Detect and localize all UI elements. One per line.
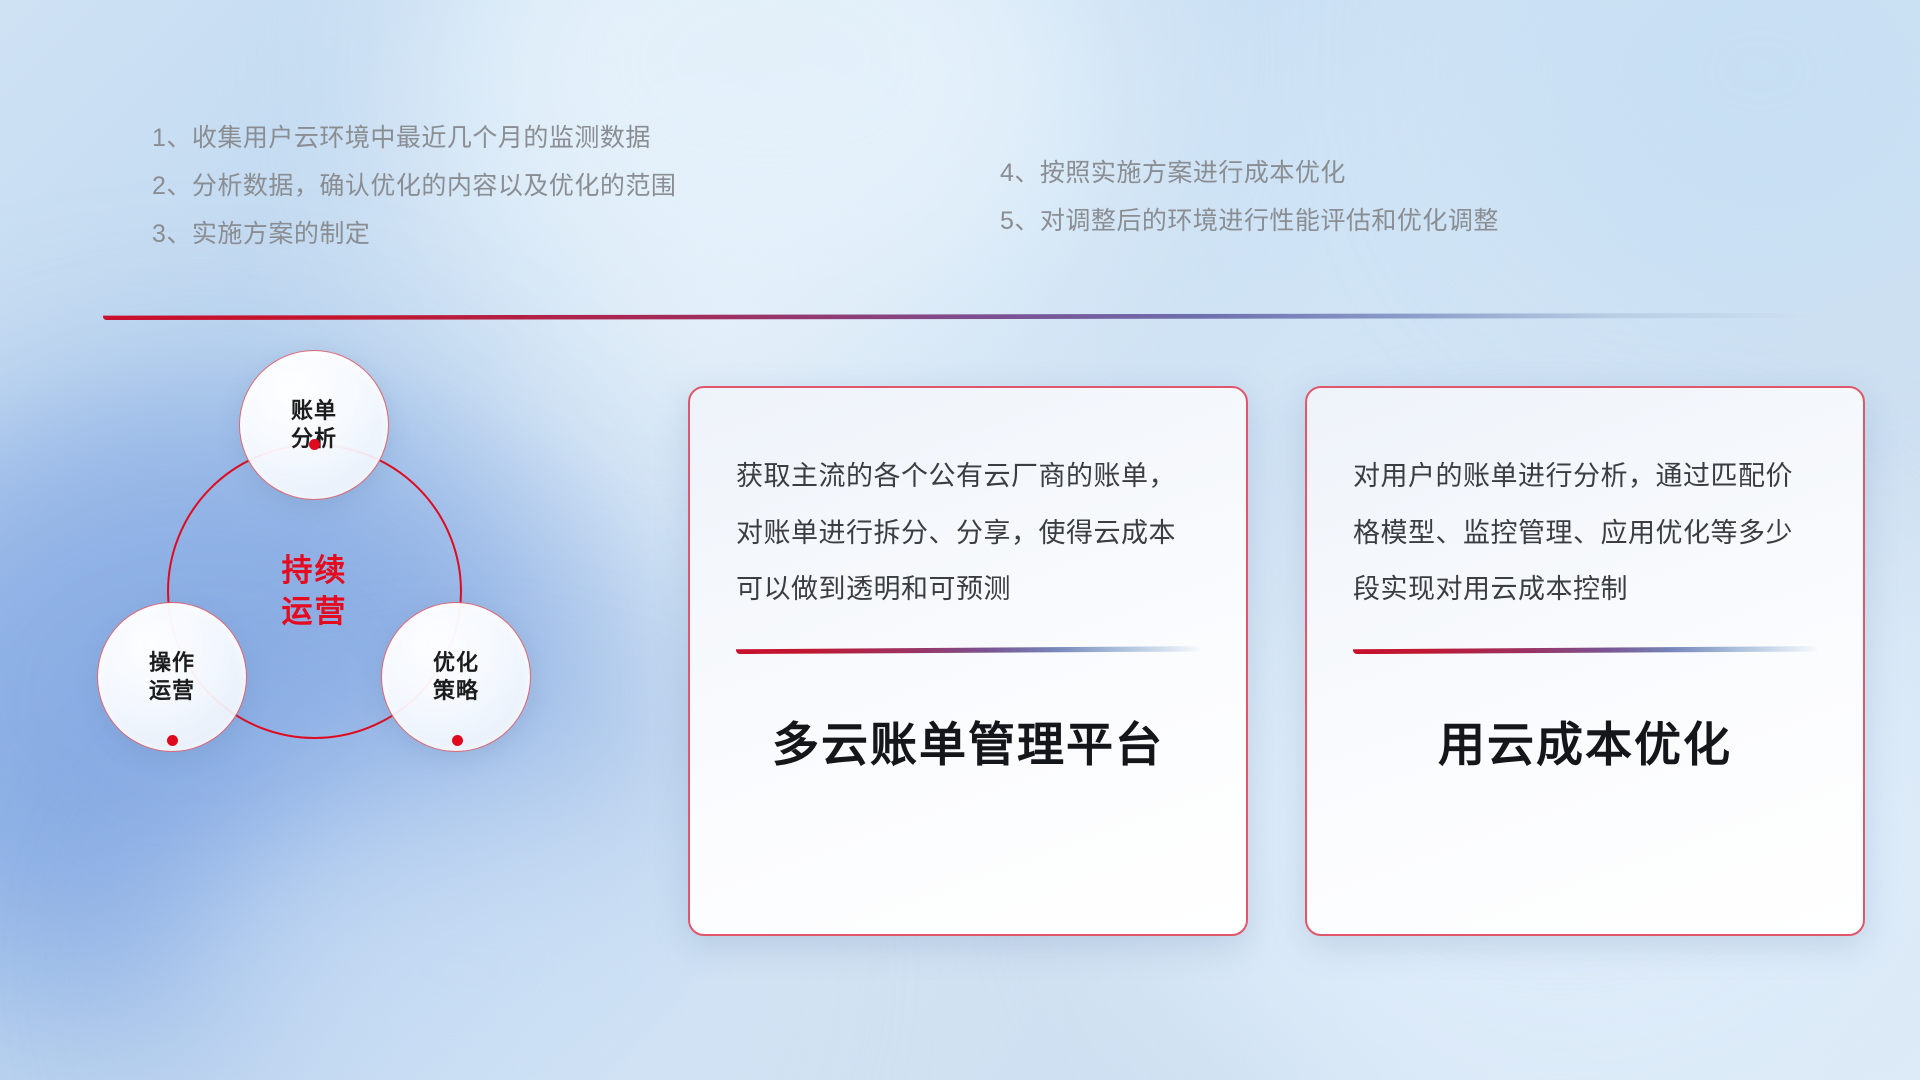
venn-bubble-1-line2: 运营 — [149, 677, 195, 705]
venn-bubble-optimize-policy[interactable]: 优化 策略 — [381, 602, 531, 752]
card-divider — [1353, 646, 1817, 654]
header-gradient-rule — [103, 313, 1818, 320]
card-title: 多云账单管理平台 — [736, 706, 1200, 775]
venn-center-line1: 持续 — [282, 551, 348, 591]
venn-bubble-1-line1: 操作 — [149, 649, 195, 677]
card-multicloud-billing-platform[interactable]: 获取主流的各个公有云厂商的账单，对账单进行拆分、分享，使得云成本可以做到透明和可… — [688, 386, 1248, 936]
venn-bubble-ops-operation[interactable]: 操作 运营 — [97, 602, 247, 752]
step-item-2: 2、分析数据，确认优化的内容以及优化的范围 — [152, 174, 676, 199]
card-cloud-cost-optimization[interactable]: 对用户的账单进行分析，通过匹配价格模型、监控管理、应用优化等多少段实现对用云成本… — [1305, 386, 1865, 936]
card-body-text: 对用户的账单进行分析，通过匹配价格模型、监控管理、应用优化等多少段实现对用云成本… — [1353, 448, 1817, 618]
venn-bubble-2-line2: 策略 — [433, 677, 479, 705]
venn-center-line2: 运营 — [282, 592, 348, 632]
venn-bubble-label: 操作 运营 — [98, 603, 246, 751]
card-title: 用云成本优化 — [1353, 706, 1817, 775]
background-blob-topright — [1500, 0, 1920, 300]
venn-bubble-label: 账单 分析 — [240, 351, 388, 499]
venn-bubble-label: 优化 策略 — [382, 603, 530, 751]
steps-right-column: 4、按照实施方案进行成本优化 5、对调整后的环境进行性能评估和优化调整 — [1000, 161, 1499, 257]
venn-diagram: 持续 运营 账单 分析 操作 运营 优化 策略 — [95, 350, 635, 930]
step-item-4: 4、按照实施方案进行成本优化 — [1000, 161, 1499, 186]
step-item-1: 1、收集用户云环境中最近几个月的监测数据 — [152, 126, 676, 151]
step-item-5: 5、对调整后的环境进行性能评估和优化调整 — [1000, 209, 1499, 234]
venn-bubble-0-line1: 账单 — [291, 397, 337, 425]
venn-node-dot-bottom-left — [167, 735, 178, 746]
slide-canvas: 1、收集用户云环境中最近几个月的监测数据 2、分析数据，确认优化的内容以及优化的… — [0, 0, 1920, 1080]
venn-bubble-bill-analysis[interactable]: 账单 分析 — [239, 350, 389, 500]
card-divider — [736, 646, 1200, 654]
card-body-text: 获取主流的各个公有云厂商的账单，对账单进行拆分、分享，使得云成本可以做到透明和可… — [736, 448, 1200, 618]
steps-left-column: 1、收集用户云环境中最近几个月的监测数据 2、分析数据，确认优化的内容以及优化的… — [152, 126, 676, 270]
venn-bubble-2-line1: 优化 — [433, 649, 479, 677]
step-item-3: 3、实施方案的制定 — [152, 222, 676, 247]
venn-node-dot-bottom-right — [452, 735, 463, 746]
venn-node-dot-top — [309, 439, 320, 450]
